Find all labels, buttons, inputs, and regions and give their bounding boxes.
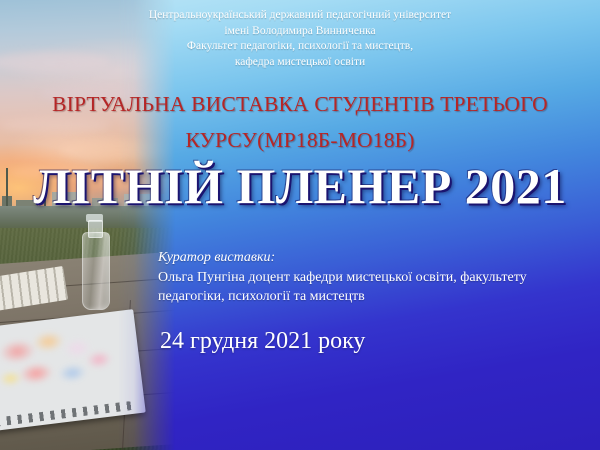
subtitle-line-2: КУРСУ(МР18Б-МО18Б) xyxy=(12,122,588,158)
curator-block: Куратор виставки: Ольга Пунгіна доцент к… xyxy=(158,248,578,307)
page-title: ЛІТНІЙ ПЛЕНЕР 2021 xyxy=(0,158,600,214)
institution-line-2: імені Володимира Винниченка xyxy=(0,24,600,40)
subtitle-line-1: ВІРТУАЛЬНА ВИСТАВКА СТУДЕНТІВ ТРЕТЬОГО xyxy=(12,86,588,122)
event-date: 24 грудня 2021 року xyxy=(160,326,365,356)
glass-spray-bottle xyxy=(82,232,110,310)
presentation-slide: Центральноукраїнський державний педагогі… xyxy=(0,0,600,450)
institution-line-3: Факультет педагогіки, психології та мист… xyxy=(0,39,600,55)
sketchbook xyxy=(0,309,146,431)
exhibition-subtitle: ВІРТУАЛЬНА ВИСТАВКА СТУДЕНТІВ ТРЕТЬОГО К… xyxy=(12,86,588,158)
curator-name-line-1: Ольга Пунгіна доцент кафедри мистецької … xyxy=(158,268,578,288)
curator-name-line-2: педагогіки, психології та мистецтв xyxy=(158,287,578,307)
institution-header: Центральноукраїнський державний педагогі… xyxy=(0,8,600,70)
watercolor-painting xyxy=(0,320,118,396)
institution-line-1: Центральноукраїнський державний педагогі… xyxy=(0,8,600,24)
curator-label: Куратор виставки: xyxy=(158,248,578,268)
institution-line-4: кафедра мистецької освіти xyxy=(0,55,600,71)
